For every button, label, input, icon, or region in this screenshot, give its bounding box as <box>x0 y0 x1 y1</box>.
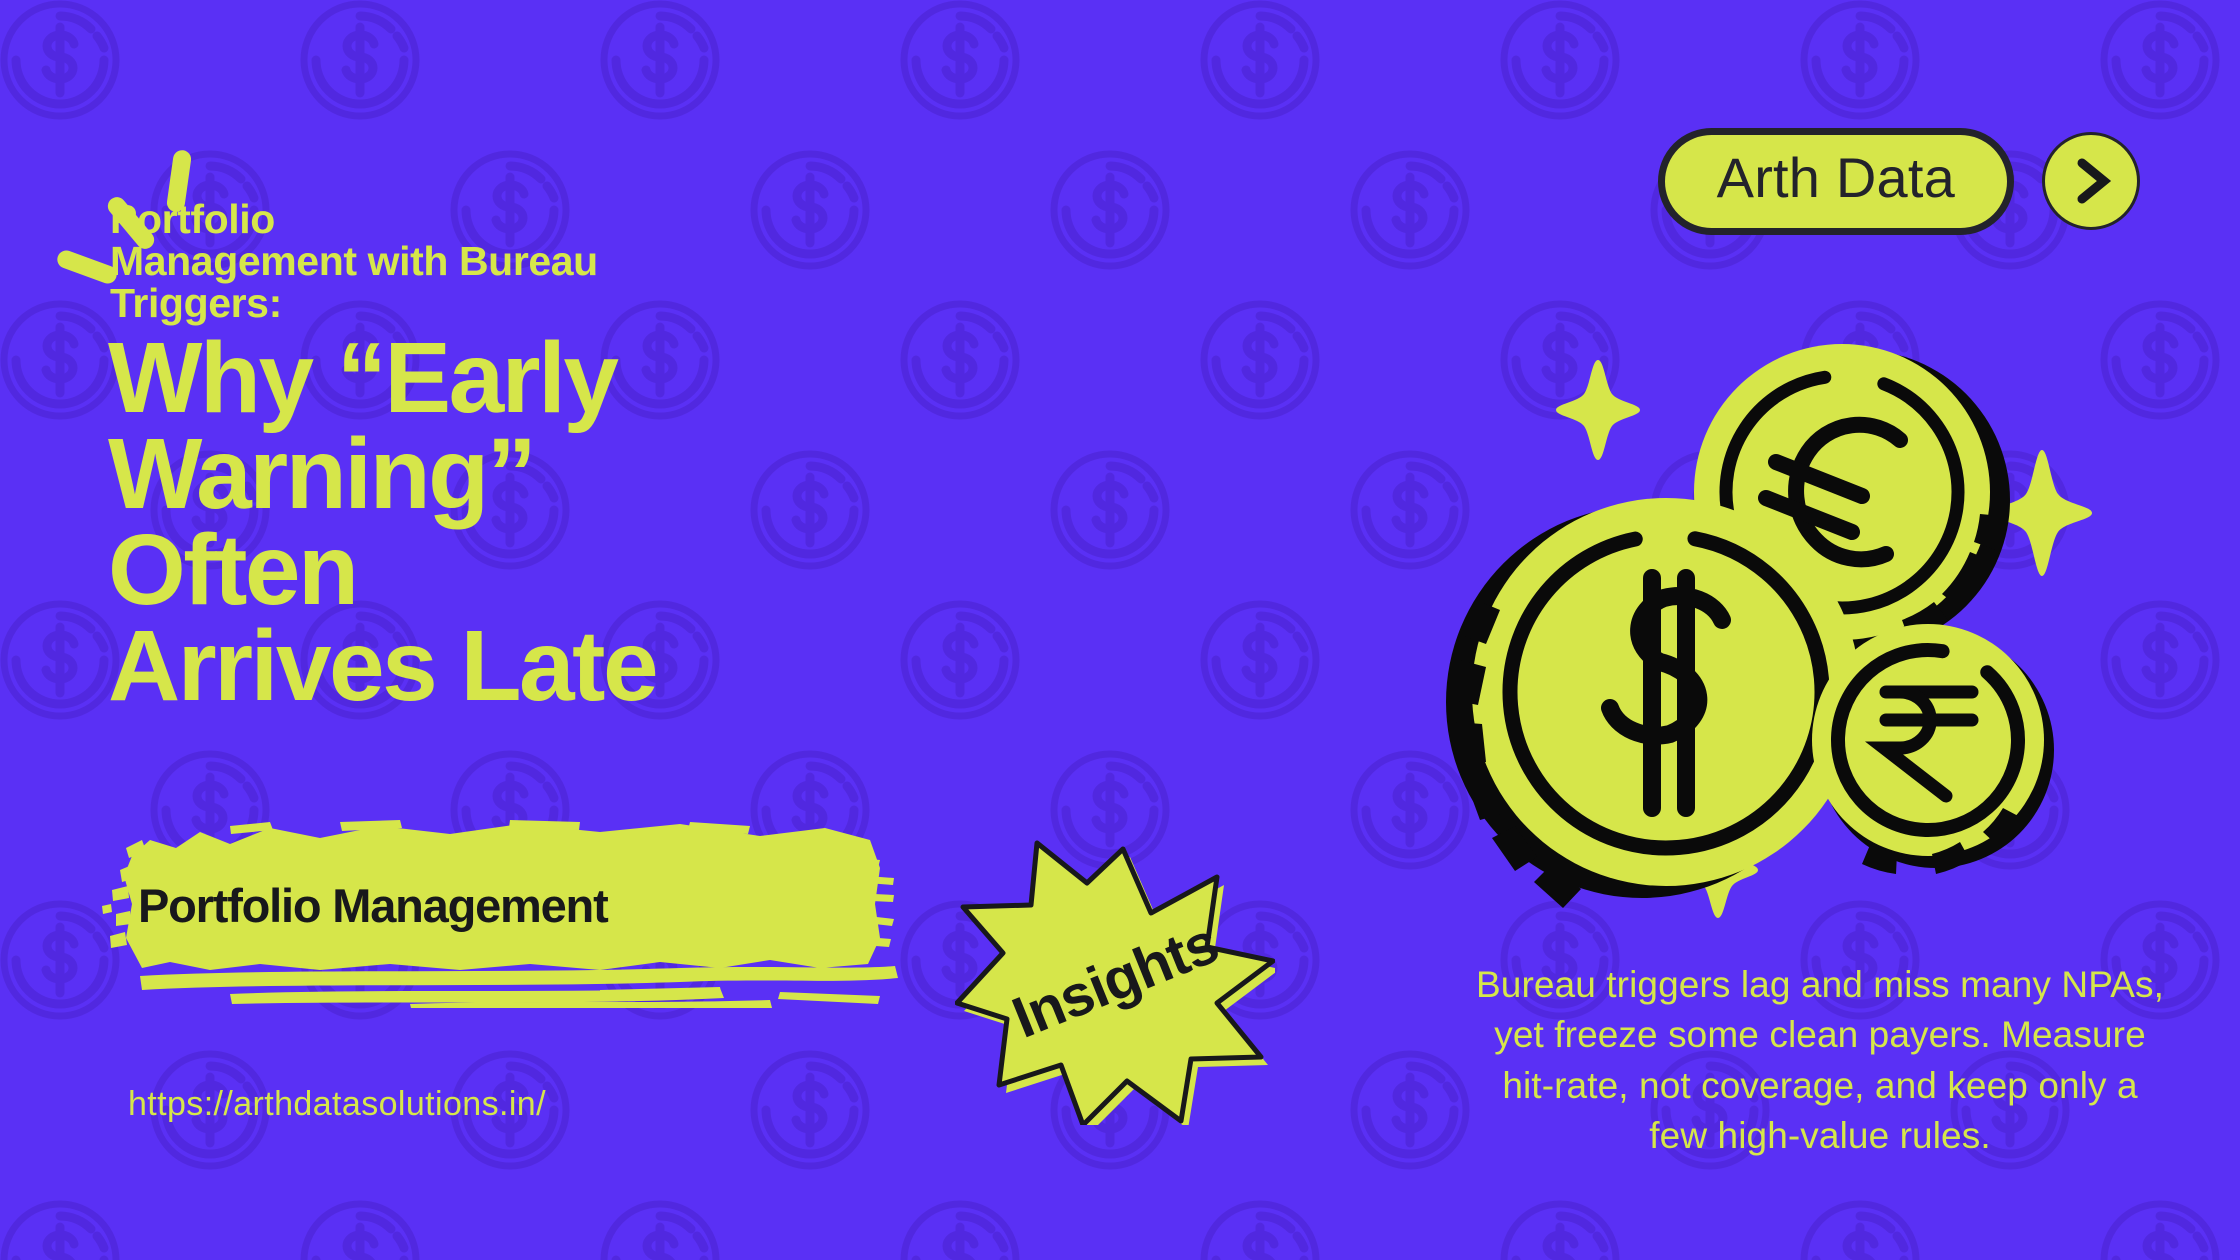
brush-badge: Portfolio Management <box>80 818 900 1008</box>
chevron-right-icon[interactable] <box>2042 132 2140 230</box>
eyebrow-text: Portfolio Management with Bureau Trigger… <box>110 198 910 325</box>
coins-stack-icon <box>1430 320 2110 940</box>
brush-badge-label: Portfolio Management <box>138 878 838 933</box>
poster-canvas: Portfolio Management with Bureau Trigger… <box>0 0 2240 1260</box>
body-paragraph: Bureau triggers lag and miss many NPAs, … <box>1470 960 2170 1161</box>
site-url-link[interactable]: https://arthdatasolutions.in/ <box>128 1085 546 1124</box>
insights-badge[interactable]: Insights <box>955 835 1275 1125</box>
rupee-coin <box>1812 624 2054 874</box>
page-title: Why “Early Warning” Often Arrives Late <box>108 330 948 714</box>
brand-name-pill[interactable]: Arth Data <box>1658 128 2014 235</box>
left-content-column: Portfolio Management with Bureau Trigger… <box>0 0 1000 1260</box>
brand-header: Arth Data <box>1658 128 2140 235</box>
